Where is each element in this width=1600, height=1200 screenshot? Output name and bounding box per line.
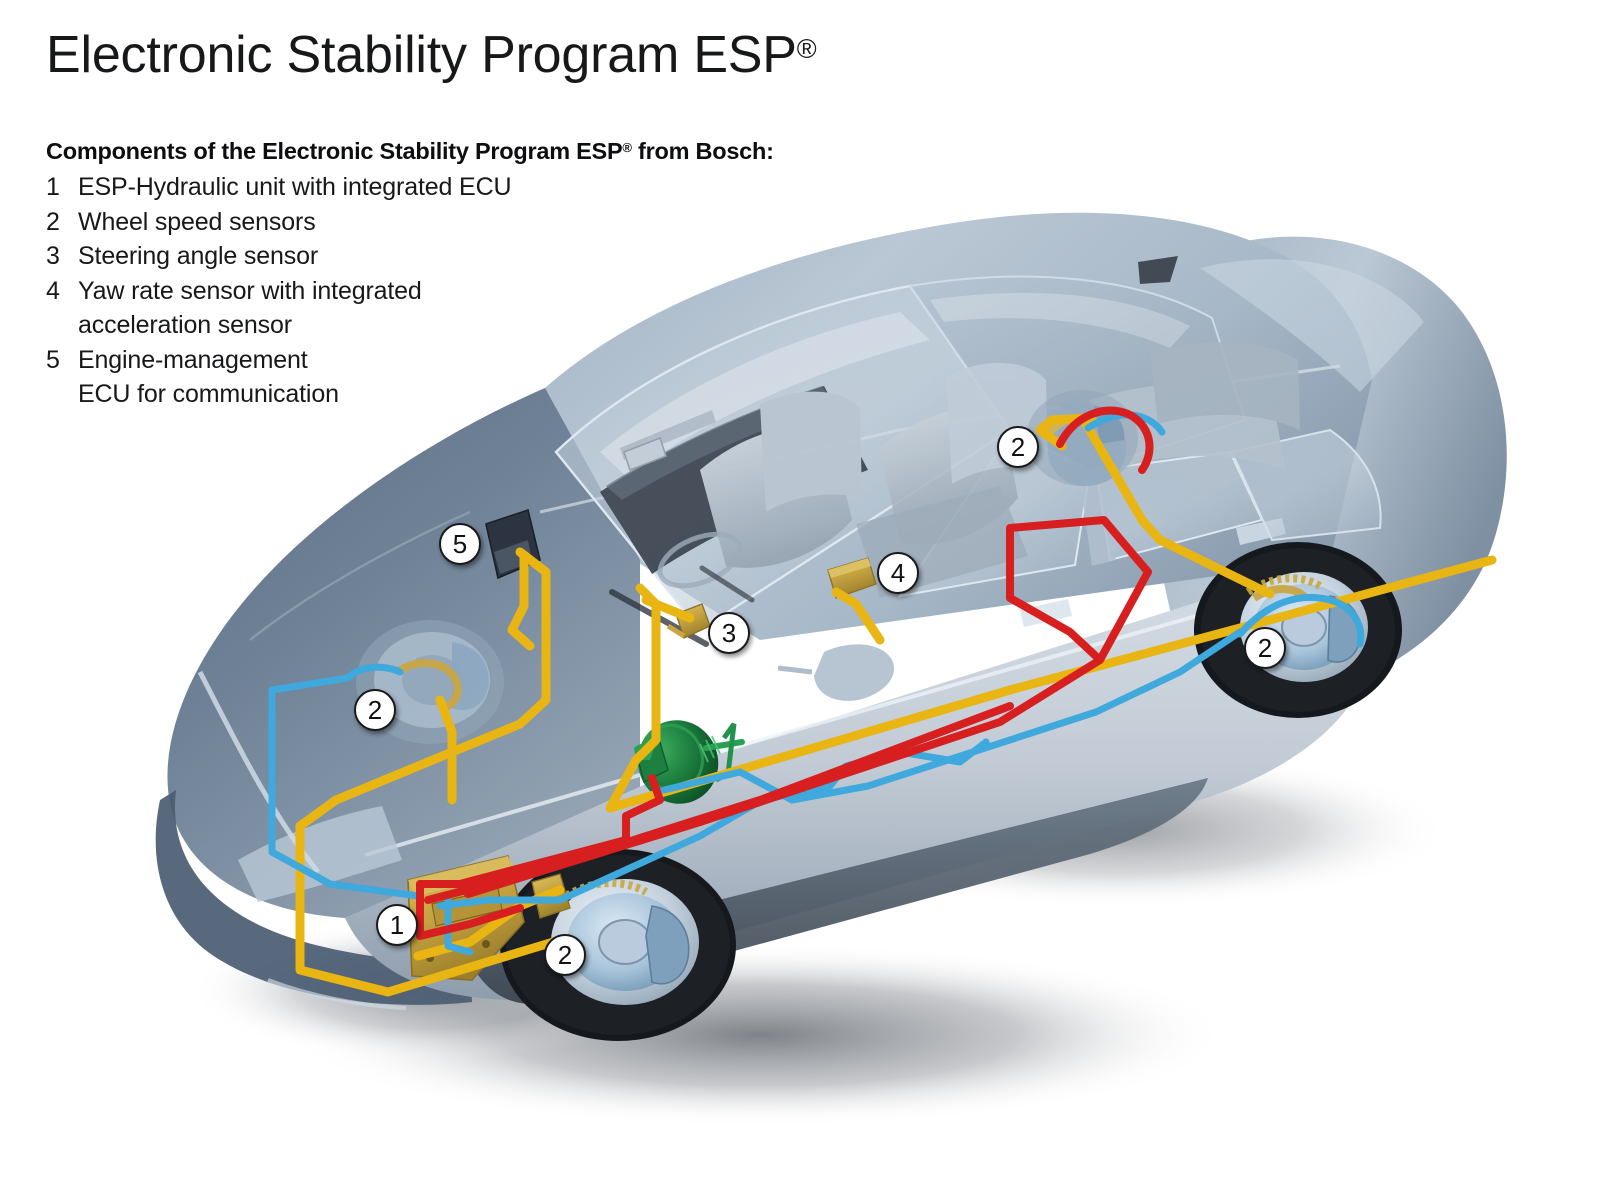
callout-2-front-left[interactable]: 2 [354, 689, 396, 731]
callout-2-rear-right[interactable]: 2 [1244, 627, 1286, 669]
callout-1-hydraulic[interactable]: 1 [376, 904, 418, 946]
callout-3-steering[interactable]: 3 [708, 612, 750, 654]
side-mirror-stem [778, 668, 812, 672]
driver-seat-back [760, 392, 862, 512]
callout-4-yaw[interactable]: 4 [877, 552, 919, 594]
side-mirror [814, 644, 894, 700]
callout-2-rear-left[interactable]: 2 [997, 426, 1039, 468]
hydraulic-unit-port-b [482, 940, 490, 948]
rear-left-wheel [1026, 390, 1138, 486]
callout-5-ecu[interactable]: 5 [439, 523, 481, 565]
esp-diagram-page: Electronic Stability Program ESP® Compon… [0, 0, 1600, 1200]
callout-2-front-right[interactable]: 2 [544, 934, 586, 976]
car-cutaway-illustration [0, 0, 1600, 1200]
